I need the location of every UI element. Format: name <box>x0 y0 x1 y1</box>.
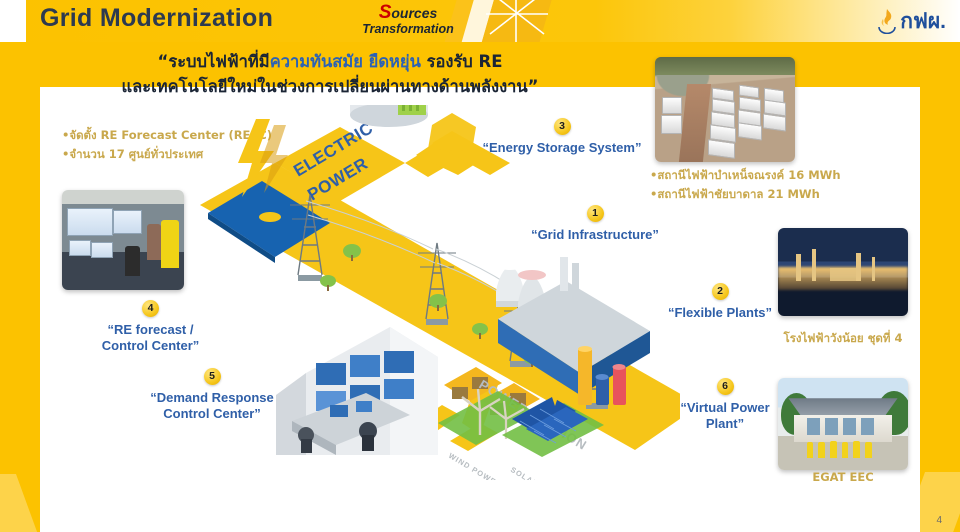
callout-label: “Virtual Power Plant” <box>640 400 810 433</box>
callout-virtual-power-plant[interactable]: 6 “Virtual Power Plant” <box>640 378 810 433</box>
grid-illustration: ELECTRIC POWER <box>180 105 680 480</box>
headline-line2: และเทคโนโลยีใหม่ในช่วงการเปลี่ยนผ่านทางด… <box>121 77 538 96</box>
badge-number: 6 <box>717 378 734 395</box>
callout-flexible-plants[interactable]: 2 “Flexible Plants” <box>640 283 800 321</box>
badge-number: 1 <box>587 205 604 222</box>
sources-capital-s: S <box>379 2 392 23</box>
sources-rest: ources <box>391 5 437 21</box>
badge-number: 2 <box>712 283 729 300</box>
callout-label: “Grid Infrastructure” <box>505 227 685 243</box>
caption-flexible-plants: โรงไฟฟ้าวังน้อย ชุดที่ 4 <box>778 330 908 348</box>
page-title: Grid Modernization <box>40 4 273 33</box>
badge-number: 3 <box>554 118 571 135</box>
label-solar-power: SOLAR POWER <box>509 465 572 480</box>
transformation-line: Transformation <box>348 23 468 36</box>
callout-label: “Flexible Plants” <box>640 305 800 321</box>
badge-number: 4 <box>142 300 159 317</box>
callout-label: “Demand Response Control Center” <box>112 390 312 423</box>
sources-line: Sources <box>348 3 468 23</box>
headline: “ระบบไฟฟ้าที่มีความทันสมัย ยืดหยุ่น รองร… <box>50 50 610 100</box>
caption-virtual-power-plant: EGAT EEC <box>778 470 908 484</box>
callout-re-forecast-control-center[interactable]: 4 “RE forecast / Control Center” <box>58 300 243 355</box>
callout-demand-response-control-center[interactable]: 5 “Demand Response Control Center” <box>112 368 312 423</box>
egat-flame-icon <box>877 8 897 34</box>
header-left-notch <box>0 0 26 42</box>
egat-logo-text: กฟผ. <box>900 5 946 38</box>
badge-number: 5 <box>204 368 221 385</box>
person-yellow-shirt <box>161 220 179 268</box>
headline-line1-part1: “ระบบไฟฟ้าที่มี <box>157 52 269 71</box>
photo-control-center <box>62 190 184 290</box>
callout-label: “Energy Storage System” <box>462 140 662 156</box>
label-wind-power: WIND POWER <box>447 451 503 480</box>
callout-label: “RE forecast / Control Center” <box>58 322 243 355</box>
headline-line1-part3: รองรับ RE <box>421 52 503 71</box>
headline-line1-highlight: ความทันสมัย ยืดหยุ่น <box>270 52 421 71</box>
egat-logo: กฟผ. <box>877 6 946 36</box>
slide-root: Grid Modernization Sources Transformatio… <box>0 0 960 532</box>
callout-energy-storage-system[interactable]: 3 “Energy Storage System” <box>462 118 662 156</box>
callout-grid-infrastructure[interactable]: 1 “Grid Infrastructure” <box>505 205 685 243</box>
page-number: 4 <box>936 515 942 526</box>
sources-transformation-logo: Sources Transformation <box>348 3 468 36</box>
isometric-grid-diagram: ELECTRIC POWER <box>180 105 680 480</box>
header-sunburst-icon <box>486 0 548 46</box>
